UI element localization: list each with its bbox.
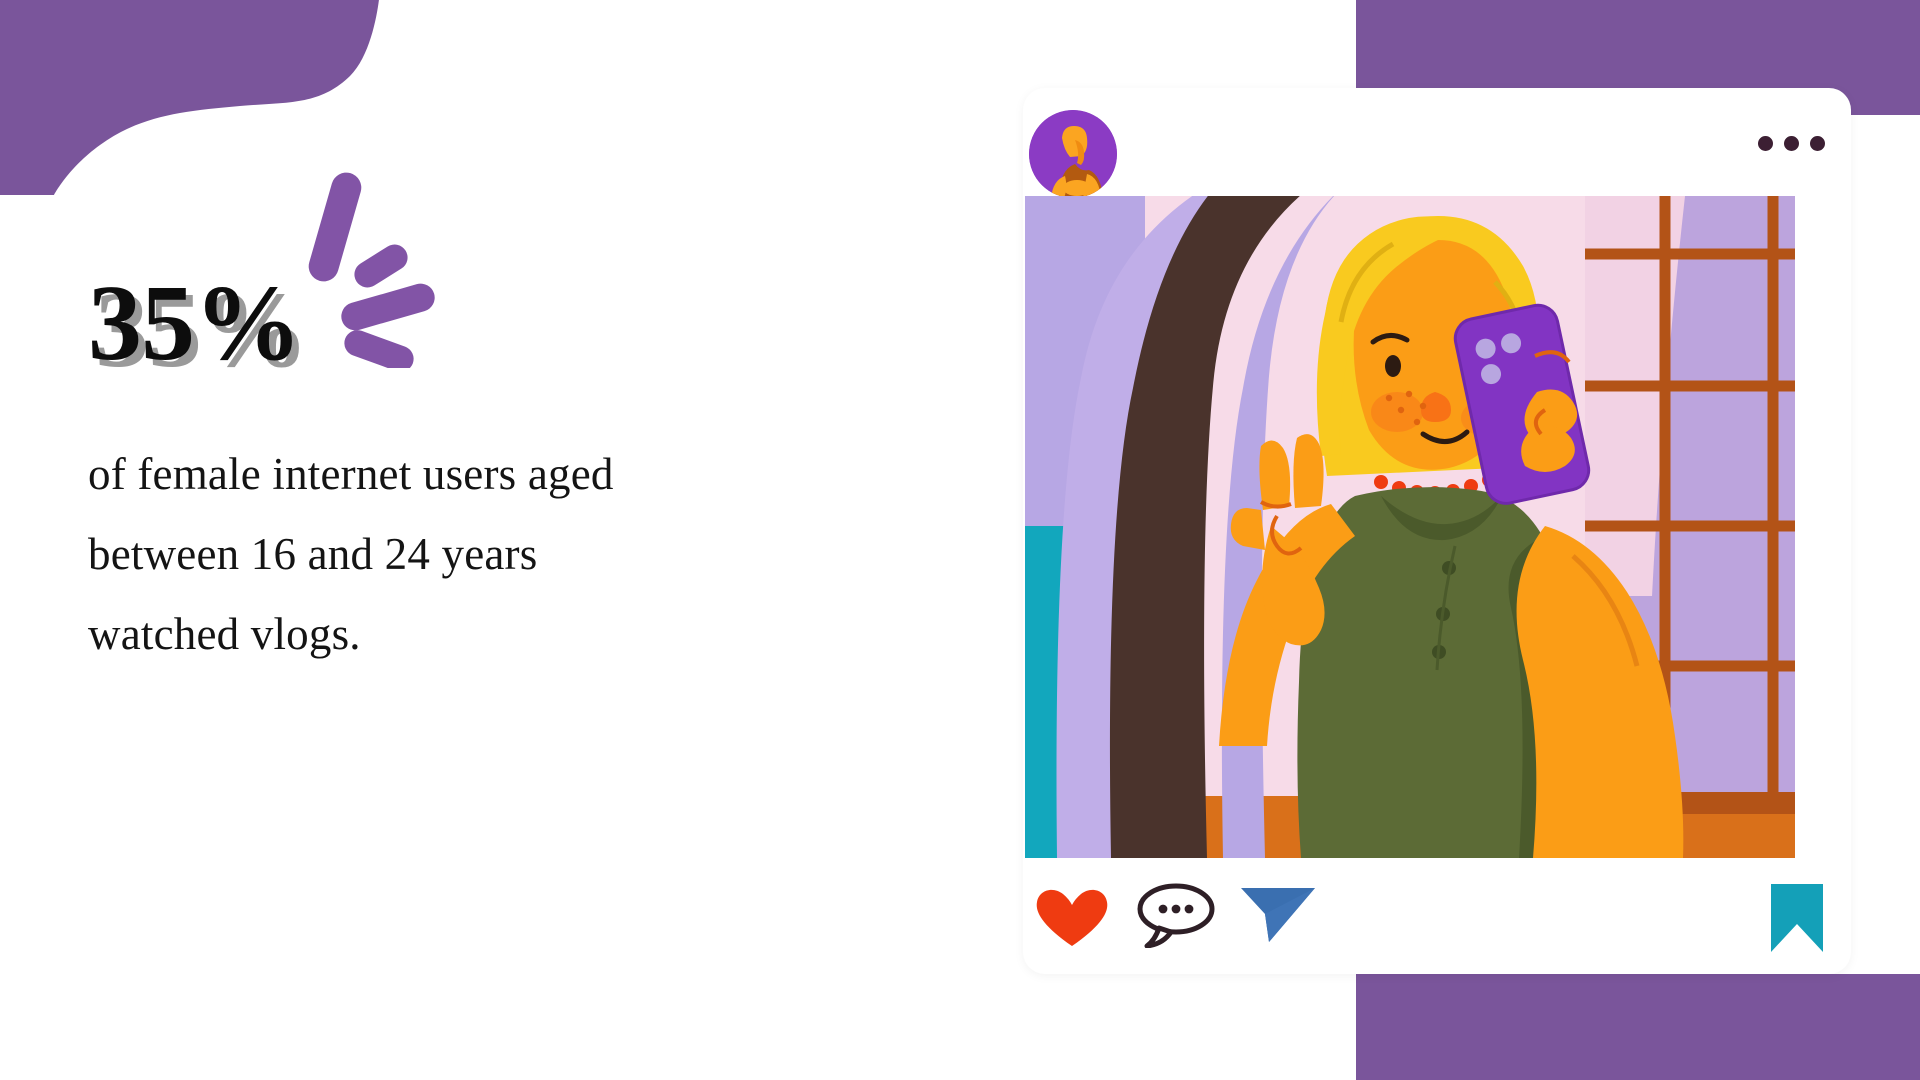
- slide-canvas: 35% of female internet users aged betwee…: [0, 0, 1920, 1080]
- description-line-3: watched vlogs.: [88, 594, 808, 674]
- bottom-right-purple-band: [1356, 974, 1920, 1080]
- selfie-illustration: [1025, 196, 1795, 858]
- post-action-bar: [1023, 878, 1851, 974]
- dot-icon: [1810, 136, 1825, 151]
- bookmark-icon[interactable]: [1767, 882, 1827, 954]
- avatar[interactable]: [1029, 110, 1117, 198]
- social-post-card: [1023, 88, 1851, 974]
- dot-icon: [1758, 136, 1773, 151]
- send-paper-plane-icon[interactable]: [1239, 884, 1317, 946]
- statistic-description: of female internet users aged between 16…: [88, 434, 808, 674]
- dot-icon: [1784, 136, 1799, 151]
- description-line-1: of female internet users aged: [88, 434, 808, 514]
- heart-icon[interactable]: [1033, 886, 1111, 948]
- statistic-value: 35%: [88, 270, 301, 378]
- avatar-woman-icon: [1029, 110, 1117, 198]
- post-photo[interactable]: [1025, 196, 1795, 858]
- post-options-menu[interactable]: [1758, 136, 1825, 151]
- statistic-text-block: 35% of female internet users aged betwee…: [88, 270, 808, 674]
- description-line-2: between 16 and 24 years: [88, 514, 808, 594]
- comment-bubble-icon[interactable]: [1133, 882, 1215, 948]
